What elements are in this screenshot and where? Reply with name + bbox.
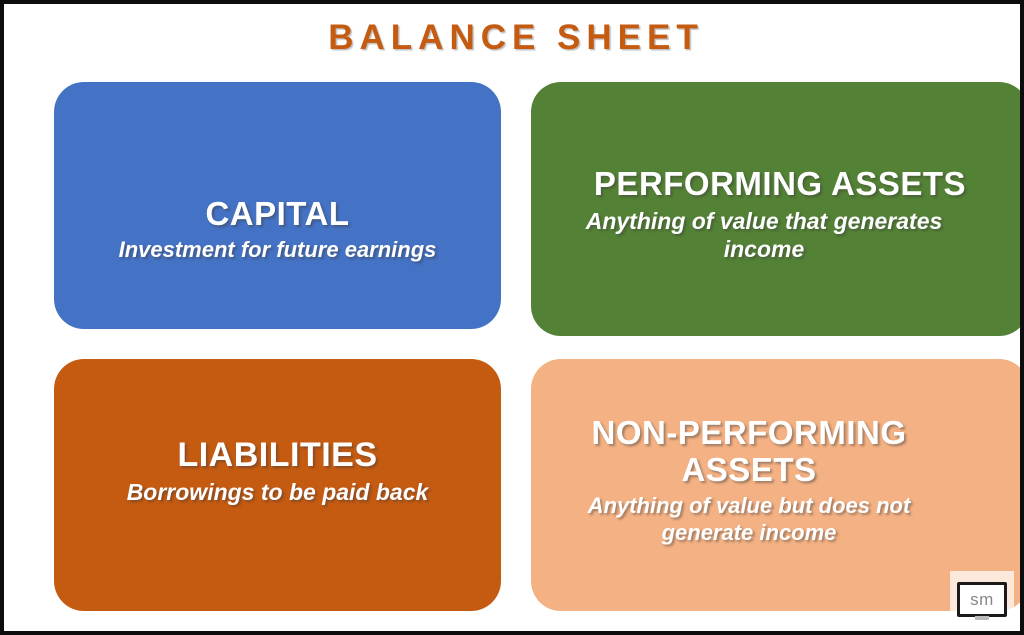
card-performing-assets-heading: PERFORMING ASSETS <box>549 166 1011 203</box>
card-capital-heading: CAPITAL <box>72 196 483 233</box>
card-performing-assets-content: PERFORMING ASSETS Anything of value that… <box>549 166 1011 263</box>
card-capital-content: CAPITAL Investment for future earnings <box>72 196 483 264</box>
card-grid: CAPITAL Investment for future earnings P… <box>54 82 979 611</box>
card-liabilities-subtitle: Borrowings to be paid back <box>72 478 483 506</box>
card-non-performing-assets-content: NON-PERFORMING ASSETS Anything of value … <box>549 415 1011 547</box>
page-title: BALANCE SHEET <box>4 18 1024 58</box>
card-capital-subtitle: Investment for future earnings <box>72 237 483 264</box>
card-liabilities-content: LIABILITIES Borrowings to be paid back <box>72 436 483 506</box>
monitor-icon: sm <box>957 582 1007 617</box>
card-performing-assets-subtitle: Anything of value that generates income <box>549 207 979 263</box>
card-liabilities[interactable]: LIABILITIES Borrowings to be paid back <box>54 359 501 611</box>
card-performing-assets[interactable]: PERFORMING ASSETS Anything of value that… <box>531 82 1024 336</box>
card-non-performing-assets-subtitle: Anything of value but does not generate … <box>549 493 949 547</box>
watermark-label: sm <box>970 591 994 608</box>
card-non-performing-assets-heading: NON-PERFORMING ASSETS <box>549 415 949 489</box>
card-capital[interactable]: CAPITAL Investment for future earnings <box>54 82 501 329</box>
balance-sheet-infographic: BALANCE SHEET CAPITAL Investment for fut… <box>0 0 1024 635</box>
watermark: sm <box>950 571 1014 627</box>
card-liabilities-heading: LIABILITIES <box>72 436 483 474</box>
